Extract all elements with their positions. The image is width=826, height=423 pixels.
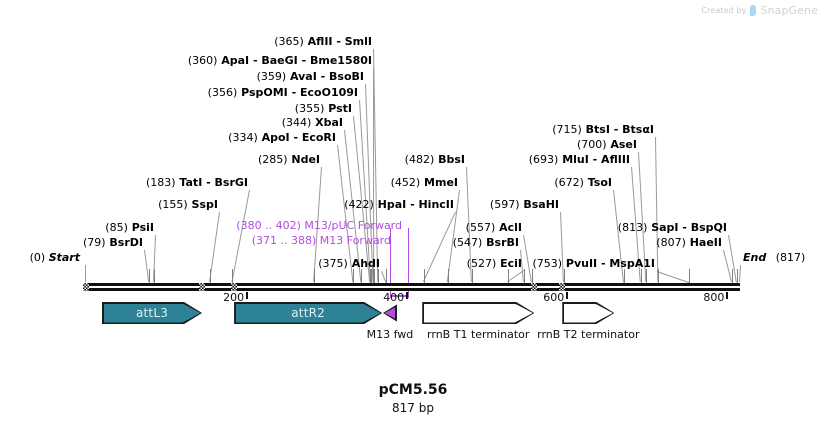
- enzyme-site-label[interactable]: (285) NdeI: [258, 154, 320, 166]
- restriction-site-tick[interactable]: [564, 269, 565, 283]
- enzyme-site-position: (807): [656, 236, 686, 249]
- feature-fill: [384, 304, 395, 323]
- enzyme-site-position: (359): [257, 70, 287, 83]
- enzyme-site-position: (482): [405, 153, 435, 166]
- leader-line: [359, 100, 371, 282]
- restriction-site-tick[interactable]: [737, 269, 738, 283]
- leader-line: [373, 49, 378, 282]
- watermark-created-by-text: Created by: [701, 6, 746, 15]
- end-terminus-label: End (817): [743, 252, 805, 264]
- enzyme-site-name: ApoI - EcoRI: [258, 131, 336, 144]
- restriction-site-tick[interactable]: [386, 269, 387, 283]
- ruler-tick-label: 800: [703, 291, 726, 304]
- feature-fill: [424, 304, 533, 323]
- enzyme-site-name: BsaHI: [520, 198, 559, 211]
- enzyme-site-position: (360): [188, 54, 218, 67]
- enzyme-site-name: PstI: [324, 102, 352, 115]
- plasmid-size: 817 bp: [0, 401, 826, 415]
- snapgene-logo-icon: [750, 5, 756, 16]
- backbone-bottom-strand: [86, 288, 740, 291]
- restriction-site-tick[interactable]: [641, 269, 642, 283]
- leader-line: [739, 265, 741, 282]
- enzyme-site-position: (527): [467, 257, 497, 270]
- restriction-site-tick[interactable]: [646, 269, 647, 283]
- enzyme-site-label[interactable]: (557) AclI: [466, 222, 522, 234]
- enzyme-site-name: MmeI: [420, 176, 458, 189]
- enzyme-site-label[interactable]: (693) MluI - AflIII: [529, 154, 630, 166]
- enzyme-site-name: AhdI: [348, 257, 380, 270]
- ruler-tick: [566, 292, 568, 299]
- restriction-site-tick[interactable]: [210, 269, 211, 283]
- end-label-text: End: [743, 251, 766, 264]
- restriction-site-tick[interactable]: [314, 269, 315, 283]
- enzyme-site-name: EciI: [496, 257, 522, 270]
- restriction-site-tick[interactable]: [232, 269, 233, 283]
- enzyme-site-name: MluI - AflIII: [558, 153, 630, 166]
- enzyme-site-name: PspOMI - EcoO109I: [237, 86, 358, 99]
- enzyme-site-name: AseI: [607, 138, 637, 151]
- restriction-site-tick[interactable]: [658, 269, 659, 283]
- feature-label: M13 fwd: [367, 328, 414, 341]
- backbone-hatch-marker: [199, 283, 205, 291]
- enzyme-site-position: (547): [453, 236, 483, 249]
- title-block: pCM5.56 817 bp: [0, 382, 826, 415]
- enzyme-site-label[interactable]: (807) HaeII: [656, 237, 722, 249]
- enzyme-site-label[interactable]: (355) PstI: [295, 103, 352, 115]
- enzyme-site-position: (672): [554, 176, 584, 189]
- primer-label[interactable]: (371 .. 388) M13 Forward: [252, 235, 391, 247]
- leader-line: [655, 137, 658, 282]
- sequence-feature[interactable]: [562, 302, 614, 324]
- ruler-tick: [406, 292, 408, 299]
- enzyme-site-label[interactable]: (360) ApaI - BaeGI - Bme1580I: [188, 55, 372, 67]
- ruler-tick: [246, 292, 248, 299]
- enzyme-site-label[interactable]: (672) TsoI: [554, 177, 612, 189]
- snapgene-watermark: Created by SnapGene: [701, 4, 818, 17]
- sequence-feature[interactable]: [383, 302, 397, 324]
- enzyme-site-name: PsiI: [128, 221, 154, 234]
- enzyme-site-position: (715): [552, 123, 582, 136]
- enzyme-site-label[interactable]: (356) PspOMI - EcoO109I: [208, 87, 358, 99]
- restriction-site-tick[interactable]: [624, 269, 625, 283]
- leader-line: [423, 212, 456, 282]
- enzyme-site-name: AflII - SmlI: [304, 35, 372, 48]
- leader-line: [723, 250, 732, 282]
- backbone-hatch-marker: [231, 283, 237, 291]
- enzyme-site-name: TatI - BsrGI: [176, 176, 248, 189]
- start-terminus-label: (0) Start: [30, 252, 80, 264]
- restriction-site-tick[interactable]: [353, 269, 354, 283]
- leader-line: [373, 68, 374, 282]
- feature-label: rrnB T1 terminator: [427, 328, 529, 341]
- primer-name: M13 Forward: [316, 234, 391, 247]
- enzyme-site-label[interactable]: (85) PsiI: [105, 222, 154, 234]
- enzyme-site-position: (422): [344, 198, 374, 211]
- enzyme-site-position: (452): [391, 176, 421, 189]
- enzyme-site-name: BbsI: [434, 153, 465, 166]
- sequence-backbone[interactable]: [86, 283, 740, 291]
- snapgene-sequence-map: Created by SnapGene (365) AflII - SmlI(3…: [0, 0, 826, 423]
- restriction-site-tick[interactable]: [149, 269, 150, 283]
- plasmid-name: pCM5.56: [0, 382, 826, 398]
- restriction-site-tick[interactable]: [370, 269, 371, 283]
- primer-label[interactable]: (380 .. 402) M13/pUC Forward: [236, 220, 402, 232]
- backbone-hatch-marker: [83, 283, 89, 291]
- enzyme-site-name: SapI - BspQI: [647, 221, 727, 234]
- end-position: (817): [776, 251, 806, 264]
- enzyme-site-position: (344): [282, 116, 312, 129]
- enzyme-site-name: BsrDI: [106, 236, 143, 249]
- enzyme-site-position: (700): [577, 138, 607, 151]
- enzyme-site-label[interactable]: (753) PvuII - MspA1I: [532, 258, 655, 270]
- enzyme-site-label[interactable]: (597) BsaHI: [490, 199, 559, 211]
- restriction-site-tick[interactable]: [378, 269, 379, 283]
- restriction-site-tick[interactable]: [448, 269, 449, 283]
- enzyme-site-position: (285): [258, 153, 288, 166]
- primer-range: (380 .. 402): [236, 219, 301, 232]
- restriction-site-tick[interactable]: [508, 269, 509, 283]
- enzyme-site-label[interactable]: (527) EciI: [467, 258, 522, 270]
- enzyme-site-label[interactable]: (700) AseI: [577, 139, 637, 151]
- enzyme-site-name: NdeI: [288, 153, 320, 166]
- enzyme-site-name: SspI: [188, 198, 218, 211]
- enzyme-site-position: (155): [158, 198, 188, 211]
- backbone-hatch-marker: [531, 283, 537, 291]
- enzyme-site-name: BsrBI: [482, 236, 519, 249]
- enzyme-site-position: (183): [146, 176, 176, 189]
- enzyme-site-label[interactable]: (344) XbaI: [282, 117, 343, 129]
- restriction-site-tick[interactable]: [732, 269, 733, 283]
- enzyme-site-position: (356): [208, 86, 238, 99]
- watermark-brand-text: SnapGene: [760, 4, 818, 17]
- enzyme-site-label[interactable]: (79) BsrDI: [83, 237, 143, 249]
- backbone-hatch-marker: [559, 283, 565, 291]
- feature-fill: [564, 304, 613, 323]
- feature-label: rrnB T2 terminator: [537, 328, 639, 341]
- feature-label: attR2: [234, 302, 382, 324]
- feature-label: attL3: [102, 302, 202, 324]
- sequence-feature[interactable]: attR2: [234, 302, 382, 324]
- restriction-site-tick[interactable]: [689, 269, 690, 283]
- enzyme-site-position: (365): [274, 35, 304, 48]
- enzyme-site-position: (813): [618, 221, 648, 234]
- enzyme-site-name: ApaI - BaeGI - Bme1580I: [217, 54, 372, 67]
- enzyme-site-name: AclI: [495, 221, 522, 234]
- enzyme-site-position: (85): [105, 221, 128, 234]
- enzyme-site-name: XbaI: [311, 116, 343, 129]
- enzyme-site-position: (693): [529, 153, 559, 166]
- restriction-site-tick[interactable]: [532, 269, 533, 283]
- leader-line: [85, 265, 86, 282]
- enzyme-site-position: (557): [466, 221, 496, 234]
- leader-line: [657, 271, 689, 283]
- enzyme-site-label[interactable]: (334) ApoI - EcoRI: [228, 132, 336, 144]
- start-position: (0): [30, 251, 46, 264]
- ruler-tick: [726, 292, 728, 299]
- enzyme-site-position: (753): [532, 257, 562, 270]
- enzyme-site-label[interactable]: (183) TatI - BsrGI: [146, 177, 248, 189]
- enzyme-site-label[interactable]: (482) BbsI: [405, 154, 465, 166]
- restriction-site-tick[interactable]: [472, 269, 473, 283]
- enzyme-site-position: (79): [83, 236, 106, 249]
- enzyme-site-label[interactable]: (422) HpaI - HincII: [344, 199, 454, 211]
- sequence-feature[interactable]: attL3: [102, 302, 202, 324]
- enzyme-site-name: HpaI - HincII: [374, 198, 454, 211]
- enzyme-site-name: PvuII - MspA1I: [562, 257, 655, 270]
- restriction-site-tick[interactable]: [361, 269, 362, 283]
- enzyme-site-label[interactable]: (813) SapI - BspQI: [618, 222, 727, 234]
- enzyme-site-label[interactable]: (155) SspI: [158, 199, 218, 211]
- enzyme-site-name: HaeII: [686, 236, 722, 249]
- restriction-site-tick[interactable]: [524, 269, 525, 283]
- enzyme-site-position: (375): [318, 257, 348, 270]
- primer-name: M13/pUC Forward: [301, 219, 402, 232]
- enzyme-site-label[interactable]: (452) MmeI: [391, 177, 458, 189]
- enzyme-site-label[interactable]: (547) BsrBI: [453, 237, 519, 249]
- start-label-text: Start: [49, 251, 80, 264]
- enzyme-site-label[interactable]: (375) AhdI: [318, 258, 380, 270]
- leader-line: [507, 270, 524, 282]
- enzyme-site-position: (597): [490, 198, 520, 211]
- enzyme-site-name: BtsI - BtsαI: [582, 123, 654, 136]
- enzyme-site-label[interactable]: (359) AvaI - BsoBI: [257, 71, 364, 83]
- enzyme-site-name: TsoI: [584, 176, 612, 189]
- primer-range: (371 .. 388): [252, 234, 317, 247]
- restriction-site-tick[interactable]: [373, 269, 374, 283]
- enzyme-site-label[interactable]: (365) AflII - SmlI: [274, 36, 372, 48]
- enzyme-site-name: AvaI - BsoBI: [286, 70, 364, 83]
- enzyme-site-position: (355): [295, 102, 325, 115]
- sequence-feature[interactable]: [422, 302, 534, 324]
- leader-line: [365, 84, 373, 282]
- restriction-site-tick[interactable]: [424, 269, 425, 283]
- enzyme-site-label[interactable]: (715) BtsI - BtsαI: [552, 124, 654, 136]
- leader-line: [232, 190, 250, 282]
- enzyme-site-position: (334): [228, 131, 258, 144]
- restriction-site-tick[interactable]: [154, 269, 155, 283]
